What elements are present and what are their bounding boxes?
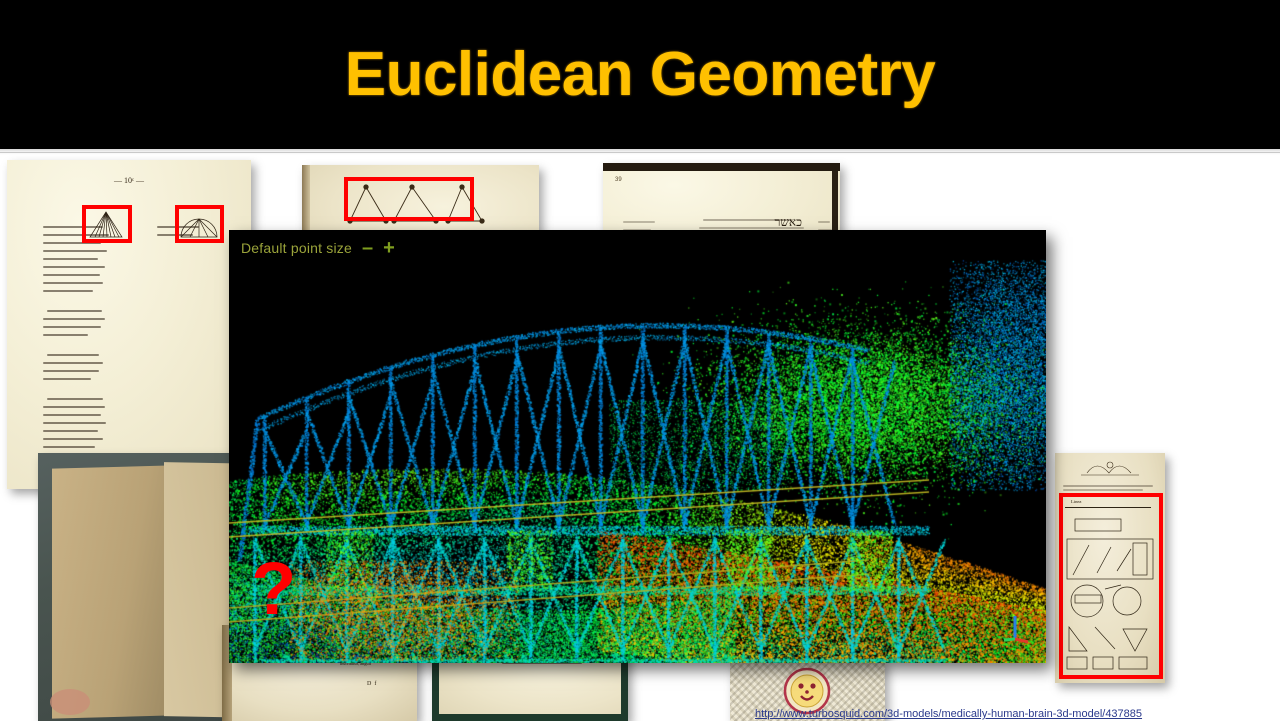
highlight-box-figures-table xyxy=(1059,493,1163,679)
point-cloud-viewer[interactable]: Default point size – + ? xyxy=(229,230,1046,663)
point-size-label: Default point size xyxy=(241,240,352,256)
book-page-left xyxy=(52,465,172,718)
slide-body: — 10ᶜ — xyxy=(0,155,1280,721)
decrease-point-size-button[interactable]: – xyxy=(362,238,373,258)
folio-number: 39 xyxy=(615,177,622,183)
header-divider-line xyxy=(0,152,1280,153)
axis-gizmo-icon[interactable] xyxy=(998,609,1032,643)
highlight-box-semicircle xyxy=(175,205,224,243)
figure-label: D f xyxy=(367,681,376,687)
highlight-box-triangles xyxy=(344,177,474,221)
page-title: Euclidean Geometry xyxy=(0,0,1280,149)
slide-header: Euclidean Geometry xyxy=(0,0,1280,149)
point-cloud-toolbar: Default point size – + xyxy=(241,236,395,260)
point-cloud-canvas[interactable] xyxy=(229,230,1046,663)
hand xyxy=(50,689,90,715)
source-url-link[interactable]: http://www.turbosquid.com/3d-models/medi… xyxy=(755,708,1142,720)
highlight-box-cone xyxy=(82,205,132,243)
question-mark-annotation: ? xyxy=(251,552,296,626)
increase-point-size-button[interactable]: + xyxy=(383,238,395,258)
thumbnail-geometric-figures-table[interactable]: Linea xyxy=(1055,453,1165,683)
thumbnail-euclid-latin-page[interactable]: — 10ᶜ — xyxy=(7,160,251,489)
